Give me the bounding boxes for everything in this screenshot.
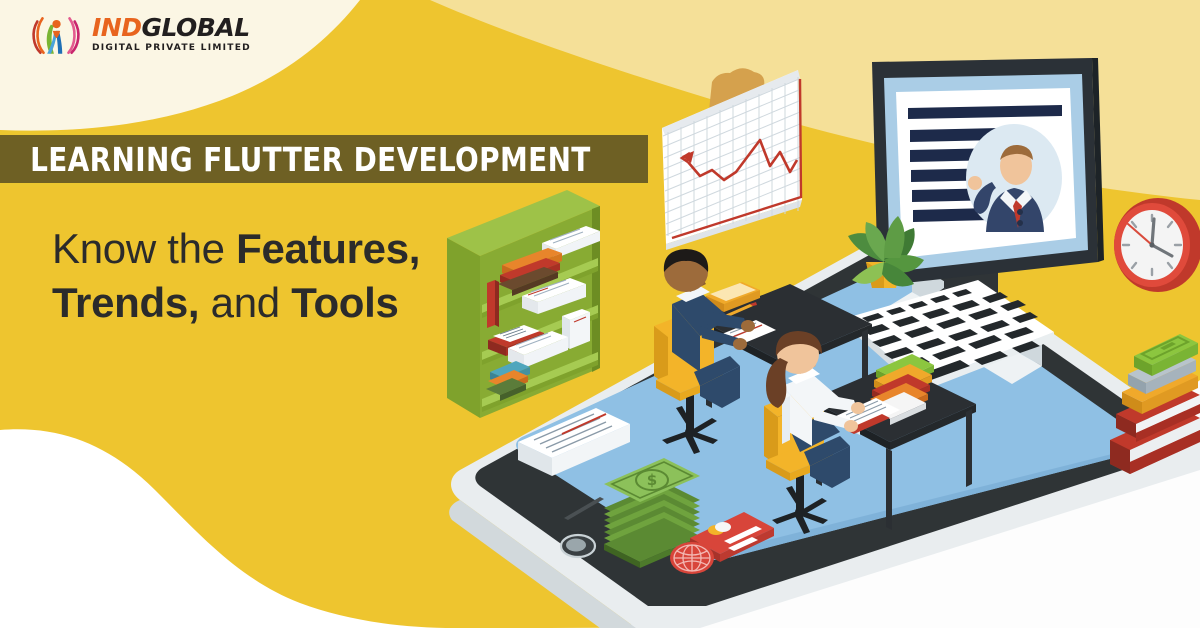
- headline-bar: LEARNING FLUTTER DEVELOPMENT: [0, 131, 648, 187]
- monitor-presenter-avatar: [966, 124, 1062, 232]
- phone-home-button: [561, 535, 595, 557]
- shelf-book-standing-red: [487, 280, 499, 328]
- subheadline-normal-2: and: [199, 279, 291, 326]
- subheadline-normal-1: Know the: [52, 225, 236, 272]
- brand-name-global: GLOBAL: [141, 13, 249, 42]
- svg-text:$: $: [647, 471, 657, 489]
- subheadline-line-1: Know the Features,: [52, 222, 472, 276]
- brand-logo-text: INDGLOBAL DIGITAL PRIVATE LIMITED: [92, 15, 251, 53]
- wall-clock-icon: [1114, 198, 1200, 292]
- brand-tagline: DIGITAL PRIVATE LIMITED: [92, 44, 251, 53]
- flutter-development-banner: $: [0, 0, 1200, 628]
- subheadline-bold-features: Features,: [236, 225, 420, 272]
- subheadline-line-2: Trends, and Tools: [52, 276, 472, 330]
- subheadline-bold-tools: Tools: [291, 279, 398, 326]
- page-title: LEARNING FLUTTER DEVELOPMENT: [0, 140, 591, 179]
- indglobal-logo-icon: [30, 8, 82, 60]
- brand-wordmark: INDGLOBAL: [92, 15, 251, 40]
- brand-logo[interactable]: INDGLOBAL DIGITAL PRIVATE LIMITED: [30, 8, 251, 60]
- whiteboard-chart: [662, 68, 802, 250]
- subheadline-bold-trends: Trends,: [52, 279, 199, 326]
- globe-icon: [670, 542, 714, 574]
- brand-name-ind: IND: [92, 13, 141, 42]
- subheadline: Know the Features, Trends, and Tools: [52, 222, 472, 330]
